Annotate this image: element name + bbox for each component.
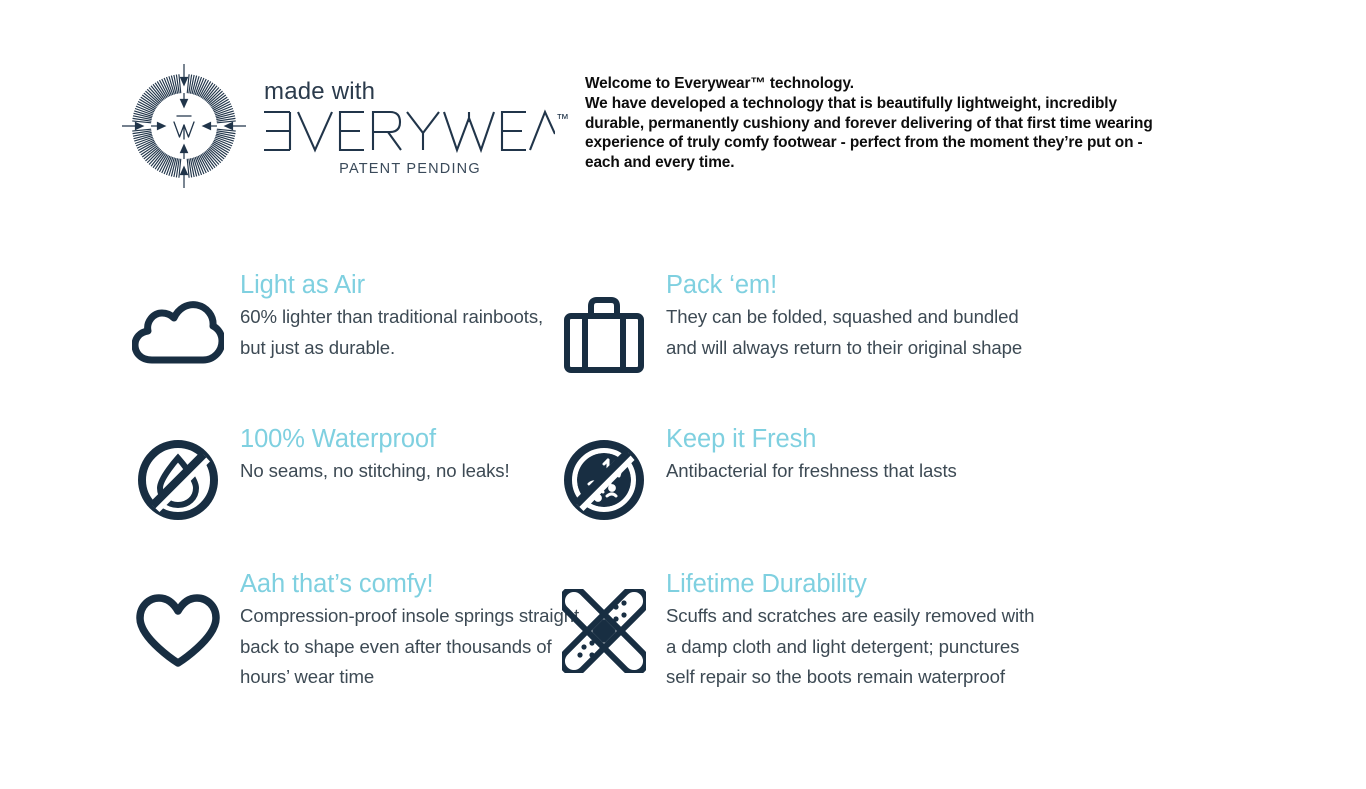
heart-icon	[130, 583, 226, 679]
welcome-line: We have developed a technology that is b…	[585, 94, 1245, 114]
feature-title: 100% Waterproof	[240, 424, 510, 454]
feature-row: 100% Waterproof No seams, no stitching, …	[0, 424, 1366, 559]
feature-desc-line: No seams, no stitching, no leaks!	[240, 456, 510, 487]
feature-desc-line: and will always return to their original…	[666, 333, 1022, 364]
feature-desc-line: back to shape even after thousands of	[240, 632, 579, 663]
feature-text: Keep it Fresh Antibacterial for freshnes…	[652, 424, 957, 487]
feature-title: Light as Air	[240, 270, 543, 300]
welcome-line: durable, permanently cushiony and foreve…	[585, 114, 1245, 134]
patent-pending-label: PATENT PENDING	[260, 161, 560, 177]
feature-title: Pack ‘em!	[666, 270, 1022, 300]
feature-title: Lifetime Durability	[666, 569, 1034, 599]
wordmark-block: made with	[260, 76, 569, 177]
feature-description: 60% lighter than traditional rainboots, …	[240, 302, 543, 363]
cloud-icon	[130, 286, 226, 382]
feature-item-waterproof: 100% Waterproof No seams, no stitching, …	[0, 424, 542, 559]
everywear-compass-burst-mark	[118, 60, 250, 192]
welcome-line: experience of truly comfy footwear - per…	[585, 133, 1245, 153]
feature-grid: Light as Air 60% lighter than traditiona…	[0, 268, 1366, 709]
welcome-paragraph: Welcome to Everywear™ technology. We hav…	[585, 74, 1245, 173]
feature-desc-line: They can be folded, squashed and bundled	[666, 302, 1022, 333]
feature-desc-line: Scuffs and scratches are easily removed …	[666, 601, 1034, 632]
feature-row: Light as Air 60% lighter than traditiona…	[0, 268, 1366, 424]
feature-item-comfy: Aah that’s comfy! Compression-proof inso…	[0, 559, 542, 709]
welcome-line: each and every time.	[585, 153, 1245, 173]
feature-description: Compression-proof insole springs straigh…	[240, 601, 579, 693]
feature-item-keep-it-fresh: Keep it Fresh Antibacterial for freshnes…	[542, 424, 1142, 559]
welcome-line: Welcome to Everywear™ technology.	[585, 74, 1245, 94]
feature-title: Keep it Fresh	[666, 424, 957, 454]
feature-text: Pack ‘em! They can be folded, squashed a…	[652, 268, 1022, 363]
feature-desc-line: Compression-proof insole springs straigh…	[240, 601, 579, 632]
feature-item-light-as-air: Light as Air 60% lighter than traditiona…	[0, 268, 542, 424]
brand-lockup: made with	[118, 60, 569, 192]
feature-text: Light as Air 60% lighter than traditiona…	[226, 268, 543, 363]
feature-desc-line: Antibacterial for freshness that lasts	[666, 456, 957, 487]
crossed-bandages-icon	[556, 583, 652, 679]
feature-item-pack-em: Pack ‘em! They can be folded, squashed a…	[542, 268, 1142, 424]
feature-description: No seams, no stitching, no leaks!	[240, 456, 510, 487]
no-water-droplet-icon	[130, 432, 226, 528]
suitcase-icon	[556, 286, 652, 382]
no-bacteria-icon	[556, 432, 652, 528]
feature-desc-line: but just as durable.	[240, 333, 543, 364]
feature-text: 100% Waterproof No seams, no stitching, …	[226, 424, 510, 487]
feature-desc-line: 60% lighter than traditional rainboots,	[240, 302, 543, 333]
feature-text: Aah that’s comfy! Compression-proof inso…	[226, 559, 579, 693]
feature-description: Antibacterial for freshness that lasts	[666, 456, 957, 487]
feature-text: Lifetime Durability Scuffs and scratches…	[652, 559, 1034, 693]
page-header: made with	[0, 0, 1366, 210]
feature-desc-line: self repair so the boots remain waterpro…	[666, 662, 1034, 693]
feature-item-durability: Lifetime Durability Scuffs and scratches…	[542, 559, 1142, 709]
made-with-label: made with	[260, 80, 569, 104]
feature-description: They can be folded, squashed and bundled…	[666, 302, 1022, 363]
feature-desc-line: a damp cloth and light detergent; punctu…	[666, 632, 1034, 663]
feature-description: Scuffs and scratches are easily removed …	[666, 601, 1034, 693]
feature-title: Aah that’s comfy!	[240, 569, 579, 599]
feature-row: Aah that’s comfy! Compression-proof inso…	[0, 559, 1366, 709]
trademark-symbol: ™	[556, 112, 569, 125]
feature-desc-line: hours’ wear time	[240, 662, 579, 693]
everywear-wordmark: ™	[260, 108, 569, 154]
